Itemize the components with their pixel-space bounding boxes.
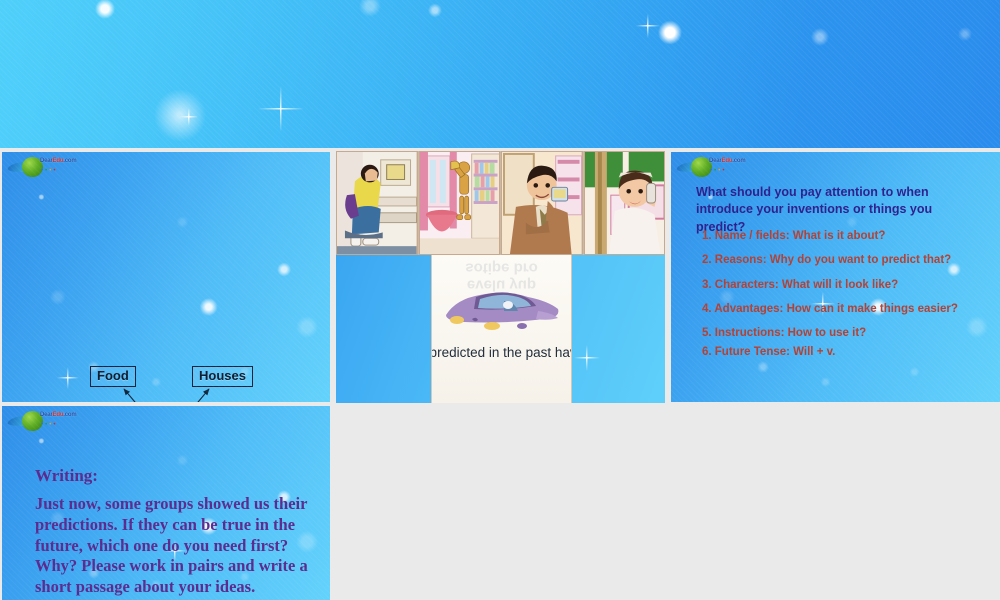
logo-dots-icon: •••• <box>710 168 726 174</box>
checklist-item[interactable]: 6. Future Tense: Will + v. <box>702 346 992 360</box>
sparkle-icon <box>180 108 198 126</box>
picture-lower-area: evelu yupsotipe bro Things people predic… <box>336 255 665 403</box>
checklist-item[interactable]: 1. Name / fields: What is it about? <box>702 230 992 244</box>
logo-dots-icon: •••• <box>41 422 57 428</box>
slide-predictions-came-true[interactable]: evelu yupsotipe bro Things people predic… <box>336 151 665 403</box>
sparkle-icon <box>574 345 600 371</box>
sparkle-icon <box>636 14 660 38</box>
checklist-list: 1. Name / fields: What is it about? 2. R… <box>702 230 992 365</box>
checklist-item[interactable]: 5. Instructions: How to use it? <box>702 327 992 341</box>
checklist-item[interactable]: 3. Characters: What will it look like? <box>702 279 992 293</box>
writing-body-text: Just now, some groups showed us their pr… <box>35 494 308 596</box>
dearedu-logo: DearEdu.com •••• <box>6 410 76 432</box>
picture-caption: Things people predicted in the past have… <box>431 343 572 381</box>
photo-strip <box>336 151 665 255</box>
sparkle-icon <box>258 86 304 132</box>
slide-predictions-mindmap[interactable]: DearEdu.com •••• Food Houses Cars Predic… <box>2 152 330 402</box>
mindmap-node-houses[interactable]: Houses <box>192 366 253 387</box>
futuristic-car-illustration <box>442 275 562 337</box>
slide-presentation-checklist[interactable]: DearEdu.com •••• What should you pay att… <box>671 152 1000 402</box>
mindmap-arrows <box>2 152 330 402</box>
writing-body: Just now, some groups showed us their pr… <box>35 494 313 600</box>
logo-brand-text: DearEdu.com <box>40 412 77 418</box>
writing-title: Writing: <box>35 466 98 486</box>
photo-woman-on-phone <box>584 151 666 255</box>
checklist-item[interactable]: 2. Reasons: Why do you want to predict t… <box>702 254 992 268</box>
logo-brand-text: DearEdu.com <box>709 158 746 164</box>
photo-person-at-computer <box>336 151 418 255</box>
caption-card: evelu yupsotipe bro Things people predic… <box>431 255 572 403</box>
mindmap-canvas: Food Houses Cars Predictions Planes Shoe… <box>2 152 330 402</box>
photo-robot-serving <box>419 151 501 255</box>
checklist-item[interactable]: 4. Advantages: How can it make things ea… <box>702 303 992 317</box>
dearedu-logo: DearEdu.com •••• <box>675 156 745 178</box>
photo-man-with-device <box>501 151 583 255</box>
checklist-heading: What should you pay attention to when in… <box>696 184 976 236</box>
decorative-banner <box>0 0 1000 148</box>
slide-writing-task[interactable]: DearEdu.com •••• Writing: Just now, some… <box>2 406 330 600</box>
mindmap-node-food[interactable]: Food <box>90 366 136 387</box>
